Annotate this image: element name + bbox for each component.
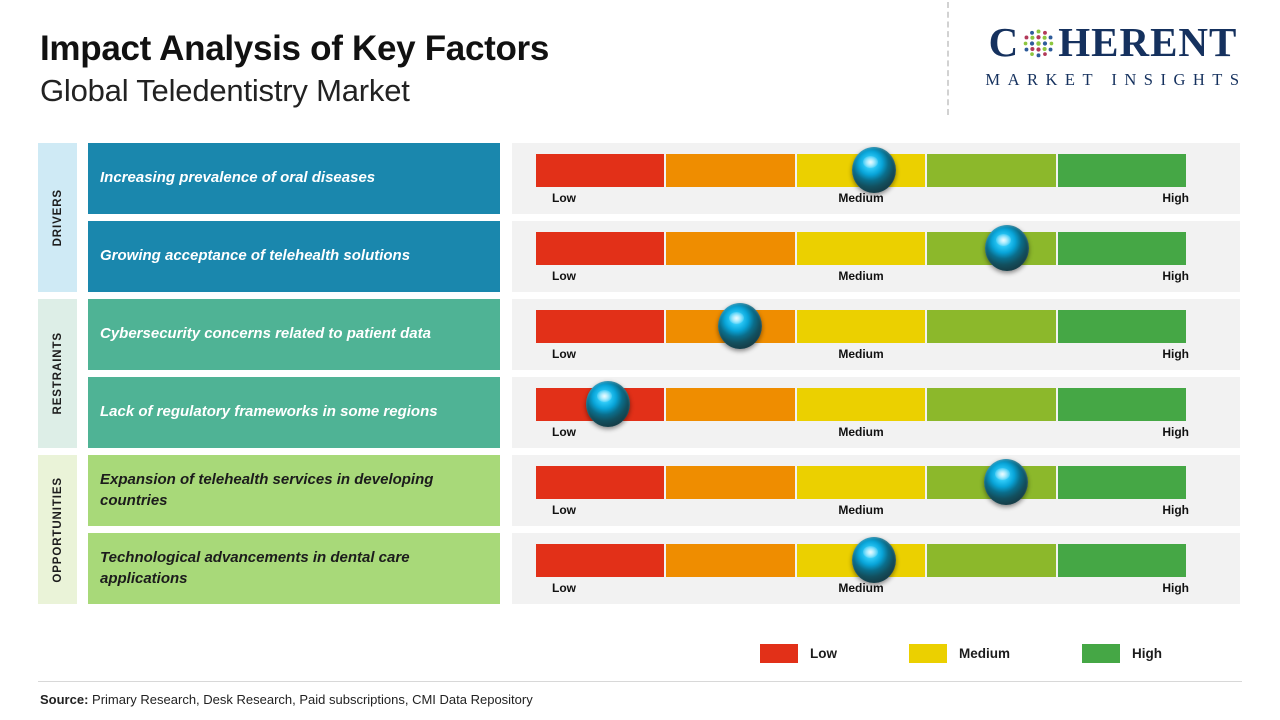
- logo-wordmark: C: [963, 22, 1263, 63]
- logo-letter-c: C: [989, 22, 1020, 63]
- gauge-segment-5: [1058, 310, 1186, 343]
- gauge-segment-2: [666, 154, 794, 187]
- impact-gauge: LowMediumHigh: [512, 221, 1240, 292]
- source-label: Source:: [40, 692, 88, 707]
- gauge-tick-labels: LowMediumHigh: [536, 191, 1186, 209]
- gauge-marker-icon[interactable]: [718, 303, 762, 349]
- impact-row: Cybersecurity concerns related to patien…: [0, 299, 1280, 370]
- factor-label: Growing acceptance of telehealth solutio…: [88, 221, 500, 292]
- gauge-tick-high: High: [1162, 503, 1189, 517]
- factor-label: Increasing prevalence of oral diseases: [88, 143, 500, 214]
- gauge-tick-med: Medium: [838, 347, 883, 361]
- gauge-segment-1: [536, 154, 664, 187]
- gauge-tick-high: High: [1162, 347, 1189, 361]
- company-logo: C: [963, 22, 1263, 90]
- gauge-segment-3: [797, 232, 925, 265]
- gauge-segment-5: [1058, 232, 1186, 265]
- footer-divider: [38, 681, 1242, 682]
- logo-letters-herent: HERENT: [1058, 22, 1237, 63]
- gauge-segment-1: [536, 544, 664, 577]
- gauge-scale: [536, 388, 1186, 421]
- gauge-tick-med: Medium: [838, 503, 883, 517]
- gauge-scale: [536, 310, 1186, 343]
- impact-gauge: LowMediumHigh: [512, 143, 1240, 214]
- page-subtitle: Global Teledentistry Market: [40, 71, 549, 111]
- impact-gauge: LowMediumHigh: [512, 533, 1240, 604]
- gauge-tick-labels: LowMediumHigh: [536, 581, 1186, 599]
- gauge-segment-2: [666, 388, 794, 421]
- gauge-segment-4: [927, 154, 1055, 187]
- gauge-segment-5: [1058, 154, 1186, 187]
- gauge-tick-med: Medium: [838, 191, 883, 205]
- gauge-segment-4: [927, 388, 1055, 421]
- impact-row: Increasing prevalence of oral diseasesLo…: [0, 143, 1280, 214]
- gauge-tick-low: Low: [552, 191, 576, 205]
- gauge-segment-3: [797, 388, 925, 421]
- gauge-tick-high: High: [1162, 581, 1189, 595]
- category-group-opportunities: OPPORTUNITIESExpansion of telehealth ser…: [0, 455, 1280, 604]
- gauge-tick-low: Low: [552, 425, 576, 439]
- gauge-segment-2: [666, 544, 794, 577]
- gauge-tick-low: Low: [552, 269, 576, 283]
- impact-row: Technological advancements in dental car…: [0, 533, 1280, 604]
- legend-label: High: [1132, 646, 1162, 661]
- page-title: Impact Analysis of Key Factors: [40, 28, 549, 69]
- factor-label: Cybersecurity concerns related to patien…: [88, 299, 500, 370]
- gauge-tick-labels: LowMediumHigh: [536, 425, 1186, 443]
- legend-item: Low: [760, 644, 837, 663]
- impact-row: Expansion of telehealth services in deve…: [0, 455, 1280, 526]
- legend-swatch: [1082, 644, 1120, 663]
- gauge-segment-4: [927, 310, 1055, 343]
- gauge-scale: [536, 232, 1186, 265]
- gauge-segment-3: [797, 310, 925, 343]
- impact-analysis-infographic: Impact Analysis of Key Factors Global Te…: [0, 0, 1280, 720]
- gauge-marker-icon[interactable]: [586, 381, 630, 427]
- header-dashed-divider: [947, 2, 949, 115]
- gauge-tick-med: Medium: [838, 425, 883, 439]
- globe-dots-icon: [1020, 25, 1057, 62]
- impact-row: Growing acceptance of telehealth solutio…: [0, 221, 1280, 292]
- legend-label: Medium: [959, 646, 1010, 661]
- gauge-scale: [536, 466, 1186, 499]
- title-block: Impact Analysis of Key Factors Global Te…: [40, 28, 549, 112]
- gauge-tick-high: High: [1162, 269, 1189, 283]
- gauge-segment-5: [1058, 466, 1186, 499]
- gauge-segment-2: [666, 466, 794, 499]
- impact-matrix: DRIVERSIncreasing prevalence of oral dis…: [0, 143, 1280, 611]
- gauge-tick-low: Low: [552, 503, 576, 517]
- gauge-segment-1: [536, 310, 664, 343]
- factor-label: Technological advancements in dental car…: [88, 533, 500, 604]
- impact-gauge: LowMediumHigh: [512, 455, 1240, 526]
- gauge-marker-icon[interactable]: [852, 537, 896, 583]
- impact-gauge: LowMediumHigh: [512, 299, 1240, 370]
- gauge-marker-icon[interactable]: [852, 147, 896, 193]
- gauge-tick-low: Low: [552, 581, 576, 595]
- gauge-segment-1: [536, 466, 664, 499]
- legend-swatch: [909, 644, 947, 663]
- legend-swatch: [760, 644, 798, 663]
- logo-tagline: MARKET INSIGHTS: [963, 70, 1263, 90]
- gauge-segment-5: [1058, 544, 1186, 577]
- source-text: Primary Research, Desk Research, Paid su…: [88, 692, 532, 707]
- legend: LowMediumHigh: [760, 644, 1162, 663]
- gauge-marker-icon[interactable]: [984, 459, 1028, 505]
- gauge-tick-labels: LowMediumHigh: [536, 503, 1186, 521]
- impact-gauge: LowMediumHigh: [512, 377, 1240, 448]
- gauge-segment-3: [797, 466, 925, 499]
- factor-label: Expansion of telehealth services in deve…: [88, 455, 500, 526]
- legend-item: High: [1082, 644, 1162, 663]
- gauge-tick-med: Medium: [838, 581, 883, 595]
- gauge-marker-icon[interactable]: [985, 225, 1029, 271]
- gauge-tick-med: Medium: [838, 269, 883, 283]
- gauge-tick-labels: LowMediumHigh: [536, 269, 1186, 287]
- legend-item: Medium: [909, 644, 1010, 663]
- gauge-segment-5: [1058, 388, 1186, 421]
- gauge-tick-high: High: [1162, 191, 1189, 205]
- factor-label: Lack of regulatory frameworks in some re…: [88, 377, 500, 448]
- source-note: Source: Primary Research, Desk Research,…: [40, 692, 533, 707]
- gauge-tick-high: High: [1162, 425, 1189, 439]
- gauge-segment-2: [666, 232, 794, 265]
- gauge-segment-4: [927, 544, 1055, 577]
- gauge-tick-labels: LowMediumHigh: [536, 347, 1186, 365]
- legend-label: Low: [810, 646, 837, 661]
- category-group-restraints: RESTRAINTSCybersecurity concerns related…: [0, 299, 1280, 448]
- category-group-drivers: DRIVERSIncreasing prevalence of oral dis…: [0, 143, 1280, 292]
- header: Impact Analysis of Key Factors Global Te…: [0, 0, 1280, 128]
- gauge-tick-low: Low: [552, 347, 576, 361]
- gauge-segment-1: [536, 232, 664, 265]
- impact-row: Lack of regulatory frameworks in some re…: [0, 377, 1280, 448]
